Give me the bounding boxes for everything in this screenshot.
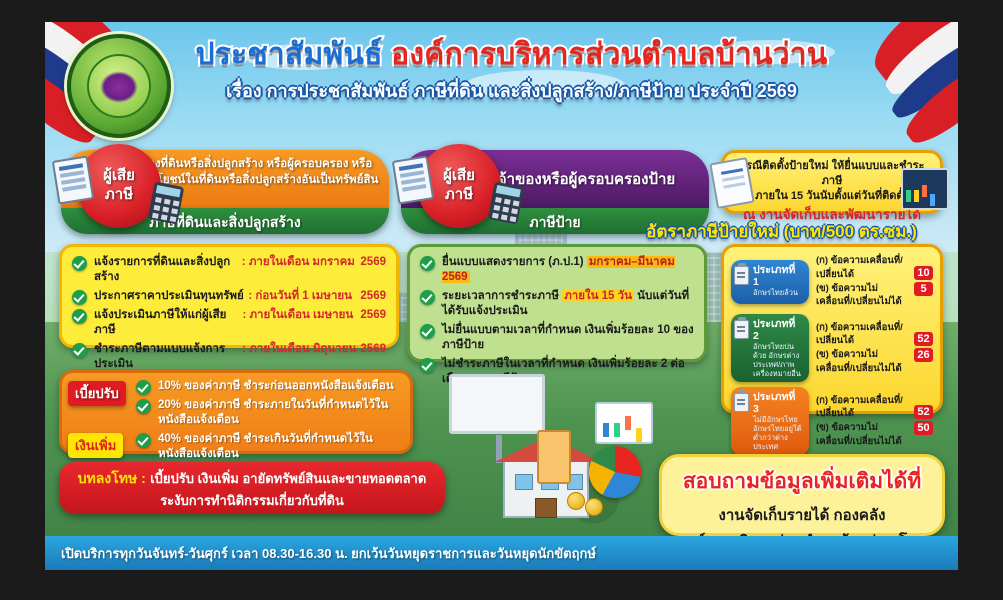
rate-table-card: ประเภทที่ 1 อักษรไทยล้วน (ก) ข้อความเคลื… (721, 244, 943, 414)
sign-rule-item: ไม่ชำระภาษีในเวลาที่กำหนด เงินเพิ่มร้อยล… (420, 357, 694, 387)
rate-table-heading-wrap: อัตราภาษีป้ายใหม่ (บาท/500 ตร.ซม.) (45, 218, 958, 245)
page-title: ประชาสัมพันธ์ องค์การบริหารส่วนตำบลบ้านว… (185, 38, 838, 71)
penalty-card: เบี้ยปรับ เงินเพิ่ม 10% ของค่าภาษี ชำระก… (59, 370, 413, 454)
check-icon (420, 358, 435, 373)
land-schedule-value: : ภายในเดือน เมษายน (242, 308, 353, 338)
sign-rule-4: ไม่ชำระภาษีในเวลาที่กำหนด เงินเพิ่มร้อยล… (442, 358, 685, 385)
page-subtitle: เรื่อง การประชาสัมพันธ์ ภาษีที่ดิน และสิ… (185, 76, 838, 105)
sign-taxpayer-badge: ผู้เสีย ภาษี (417, 144, 501, 228)
check-icon (72, 256, 87, 271)
rate-2-line-a: (ก) ข้อความเคลื่อนที่/เปลี่ยนได้ (816, 321, 914, 349)
poster-canvas: ประชาสัมพันธ์ องค์การบริหารส่วนตำบลบ้านว… (45, 22, 958, 570)
land-schedule-value: : ภายในเดือน มกราคม (242, 255, 355, 285)
rate-lines-3: (ก) ข้อความเคลื่อนที่/เปลี่ยนได้ (ข) ข้อ… (809, 394, 914, 449)
sanction-key: บทลงโทษ : (78, 470, 146, 486)
rate-values-3: 52 50 (914, 405, 933, 437)
land-schedule-row: ประกาศราคาประเมินทุนทรัพย์ : ก่อนวันที่ … (72, 289, 386, 304)
contact-card: สอบถามข้อมูลเพิ่มเติมได้ที่ งานจัดเก็บรา… (659, 454, 945, 536)
penalty-text: 40% ของค่าภาษี ชำระเกินวันที่กำหนดไว้ในห… (158, 433, 373, 460)
sign-rule-item: ระยะเวลาการชำระภาษี ภายใน 15 วัน นับแต่ว… (420, 289, 694, 319)
rate-2-line-b: (ข) ข้อความไม่เคลื่อนที่/เปลี่ยนไม่ได้ (816, 348, 914, 376)
sign-rule-2-pre: ระยะเวลาการชำระภาษี (442, 290, 559, 302)
rate-cat-3-desc: ไม่มีอักษรไทย อักษรไทยอยู่ใต้ ต่ำกว่าต่า… (753, 415, 804, 451)
clipboard-check-icon (734, 266, 749, 285)
rate-1-line-a: (ก) ข้อความเคลื่อนที่/เปลี่ยนได้ (816, 254, 914, 282)
penalty-text: 20% ของค่าภาษี ชำระภายในวันที่กำหนดไว้ใน… (158, 399, 388, 426)
rate-1-value-b: 5 (914, 282, 933, 296)
sanction-line2: ระงับการทำนิติกรรมเกี่ยวกับที่ดิน (73, 490, 431, 511)
rate-1-line-b: (ข) ข้อความไม่เคลื่อนที่/เปลี่ยนไม่ได้ (816, 282, 914, 310)
title-block: ประชาสัมพันธ์ องค์การบริหารส่วนตำบลบ้านว… (185, 38, 838, 105)
rate-3-value-b: 50 (914, 421, 933, 435)
contact-line1: งานจัดเก็บรายได้ กองคลัง (672, 503, 932, 527)
penalty-item: 20% ของค่าภาษี ชำระภายในวันที่กำหนดไว้ใน… (136, 398, 402, 428)
new-sign-note-line2: ภายใน 15 วันนับตั้งแต่วันที่ติดตั้ง (732, 189, 932, 204)
land-schedule-year: 2569 (356, 342, 386, 372)
land-schedule-card: แจ้งรายการที่ดินและสิ่งปลูกสร้าง : ภายใน… (59, 244, 399, 348)
land-badge-line2: ภาษี (105, 186, 133, 205)
check-icon (72, 343, 87, 358)
sign-rules-card: ยื่นแบบแสดงรายการ (ภ.ป.1) มกราคม–มีนาคม … (407, 244, 707, 362)
rate-lines-2: (ก) ข้อความเคลื่อนที่/เปลี่ยนได้ (ข) ข้อ… (809, 321, 914, 376)
land-schedule-row: ชำระภาษีตามแบบแจ้งการประเมิน : ภายในเดือ… (72, 342, 386, 372)
land-schedule-year: 2569 (352, 289, 386, 304)
land-schedule-label: ชำระภาษีตามแบบแจ้งการประเมิน (94, 342, 242, 372)
document-icon (52, 155, 94, 204)
poster-header: ประชาสัมพันธ์ องค์การบริหารส่วนตำบลบ้านว… (45, 22, 958, 154)
sanction-line1: เบี้ยปรับ เงินเพิ่ม อายัดทรัพย์สินและขาย… (150, 471, 426, 486)
sign-rules-list: ยื่นแบบแสดงรายการ (ภ.ป.1) มกราคม–มีนาคม … (420, 255, 694, 387)
land-schedule-row: แจ้งรายการที่ดินและสิ่งปลูกสร้าง : ภายใน… (72, 255, 386, 285)
fine-tag: เบี้ยปรับ (68, 381, 126, 406)
sign-rule-3: ไม่ยื่นแบบตามเวลาที่กำหนด เงินเพิ่มร้อยล… (442, 324, 694, 351)
org-emblem-icon (67, 34, 171, 138)
check-icon (136, 380, 151, 395)
land-schedule-label: ประกาศราคาประเมินทุนทรัพย์ (94, 289, 248, 304)
rate-1-value-a: 10 (914, 266, 933, 280)
new-sign-note-card: กรณีติดตั้งป้ายใหม่ ให้ยื่นแบบและชำระภาษ… (721, 150, 943, 214)
contact-heading: สอบถามข้อมูลเพิ่มเติมได้ที่ (672, 465, 932, 498)
check-icon (136, 399, 151, 414)
land-schedule-row: แจ้งประเมินภาษีให้แก่ผู้เสียภาษี : ภายใน… (72, 308, 386, 338)
check-icon (72, 290, 87, 305)
sign-rule-item: ไม่ยื่นแบบตามเวลาที่กำหนด เงินเพิ่มร้อยล… (420, 323, 694, 353)
clipboard-check-icon (734, 320, 749, 339)
sanction-strip: บทลงโทษ : เบี้ยปรับ เงินเพิ่ม อายัดทรัพย… (59, 462, 445, 514)
check-icon (420, 256, 435, 271)
land-taxpayer-badge: ผู้เสีย ภาษี (77, 144, 161, 228)
land-schedule-year: 2569 (355, 255, 386, 285)
rate-2-value-a: 52 (914, 332, 933, 346)
emblem-inner-graphic (100, 71, 138, 104)
check-icon (420, 290, 435, 305)
rate-category-1: ประเภทที่ 1 อักษรไทยล้วน (731, 260, 809, 304)
rate-3-line-b: (ข) ข้อความไม่เคลื่อนที่/เปลี่ยนไม่ได้ (816, 421, 914, 449)
penalty-text: 10% ของค่าภาษี ชำระก่อนออกหนังสือแจ้งเตื… (158, 380, 394, 392)
rate-cat-3-title: ประเภทที่ 3 (753, 391, 804, 415)
rate-row: ประเภทที่ 2 อักษรไทยปนด้วย อักษรต่างประเ… (731, 314, 933, 382)
rate-2-value-b: 26 (914, 348, 933, 362)
rate-values-1: 10 5 (914, 266, 933, 298)
rate-cat-1-title: ประเภทที่ 1 (753, 264, 804, 288)
sign-rule-2-highlight: ภายใน 15 วัน (562, 290, 634, 302)
rate-row: ประเภทที่ 1 อักษรไทยล้วน (ก) ข้อความเคลื… (731, 254, 933, 309)
rate-cat-2-desc: อักษรไทยปนด้วย อักษรต่างประเทศ/ภาพ เครื่… (753, 342, 804, 378)
rate-values-2: 52 26 (914, 332, 933, 364)
check-icon (72, 309, 87, 324)
footer-hours-text: เปิดบริการทุกวันจันทร์-วันศุกร์ เวลา 08.… (61, 543, 596, 564)
rate-3-value-a: 52 (914, 405, 933, 419)
penalty-item: 40% ของค่าภาษี ชำระเกินวันที่กำหนดไว้ในห… (136, 432, 402, 462)
rate-category-3: ประเภทที่ 3 ไม่มีอักษรไทย อักษรไทยอยู่ใต… (731, 387, 809, 455)
check-icon (420, 324, 435, 339)
new-sign-note-line1: กรณีติดตั้งป้ายใหม่ ให้ยื่นแบบและชำระภาษ… (732, 159, 932, 189)
sign-rule-item: ยื่นแบบแสดงรายการ (ภ.ป.1) มกราคม–มีนาคม … (420, 255, 694, 285)
rate-table-heading: อัตราภาษีป้ายใหม่ (บาท/500 ตร.ซม.) (646, 218, 917, 245)
rate-cat-2-title: ประเภทที่ 2 (753, 318, 804, 342)
penalty-item: 10% ของค่าภาษี ชำระก่อนออกหนังสือแจ้งเตื… (136, 379, 402, 394)
document-icon (392, 155, 434, 204)
sign-rule-1-pre: ยื่นแบบแสดงรายการ (ภ.ป.1) (442, 256, 584, 268)
sign-badge-line2: ภาษี (445, 186, 473, 205)
check-icon (136, 433, 151, 448)
land-schedule-label: แจ้งประเมินภาษีให้แก่ผู้เสียภาษี (94, 308, 242, 338)
sign-badge-line1: ผู้เสีย (443, 167, 475, 186)
title-part1: ประชาสัมพันธ์ (195, 38, 382, 71)
poster-footer: เปิดบริการทุกวันจันทร์-วันศุกร์ เวลา 08.… (45, 536, 958, 570)
land-schedule-value: : ภายในเดือน มิถุนายน (242, 342, 356, 372)
title-part2: องค์การบริหารส่วนตำบลบ้านว่าน (391, 38, 827, 71)
rate-category-2: ประเภทที่ 2 อักษรไทยปนด้วย อักษรต่างประเ… (731, 314, 809, 382)
rate-row: ประเภทที่ 3 ไม่มีอักษรไทย อักษรไทยอยู่ใต… (731, 387, 933, 455)
rate-cat-1-desc: อักษรไทยล้วน (753, 288, 804, 297)
land-schedule-value: : ก่อนวันที่ 1 เมษายน (248, 289, 352, 304)
land-badge-line1: ผู้เสีย (103, 167, 135, 186)
land-schedule-label: แจ้งรายการที่ดินและสิ่งปลูกสร้าง (94, 255, 242, 285)
surcharge-tag: เงินเพิ่ม (68, 433, 123, 458)
rate-3-line-a: (ก) ข้อความเคลื่อนที่/เปลี่ยนได้ (816, 394, 914, 422)
clipboard-check-icon (734, 393, 749, 412)
land-schedule-year: 2569 (353, 308, 386, 338)
rate-lines-1: (ก) ข้อความเคลื่อนที่/เปลี่ยนได้ (ข) ข้อ… (809, 254, 914, 309)
